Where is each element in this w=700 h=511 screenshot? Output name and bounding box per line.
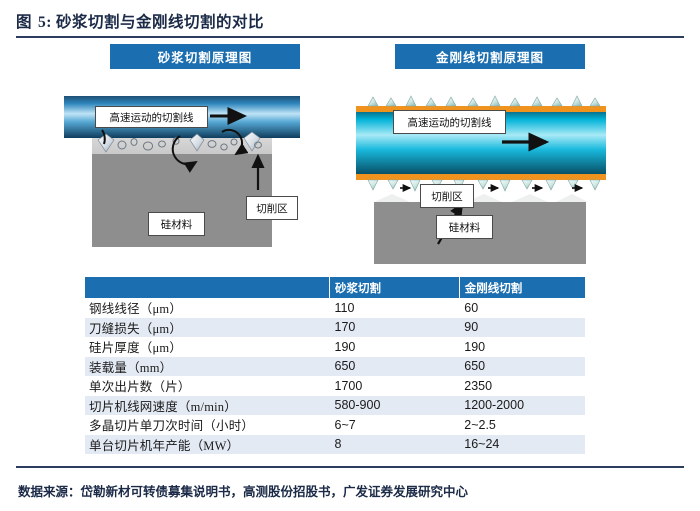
table-row: 多晶切片单刀次时间（小时） 6~7 2~2.5 [85, 415, 585, 435]
row-value-diamond: 190 [459, 337, 585, 357]
panel-diamond-header: 金刚线切割原理图 [395, 44, 585, 69]
callout-wire-right: 高速运动的切割线 [393, 110, 506, 134]
table-row: 钢线线径（μm） 110 60 [85, 298, 585, 318]
table-header-diamond: 金刚线切割 [459, 277, 585, 298]
row-value-mortar: 190 [330, 337, 460, 357]
row-value-mortar: 110 [330, 298, 460, 318]
table-header-mortar: 砂浆切割 [330, 277, 460, 298]
table-header-row: 砂浆切割 金刚线切割 [85, 277, 585, 298]
table-row: 装载量（mm） 650 650 [85, 357, 585, 377]
row-value-mortar: 8 [330, 435, 460, 455]
panel-mortar-header: 砂浆切割原理图 [110, 44, 300, 69]
row-value-diamond: 650 [459, 357, 585, 377]
callout-wire-left: 高速运动的切割线 [95, 106, 208, 128]
footer-divider [16, 466, 684, 468]
panel-mortar: 砂浆切割原理图 [110, 44, 300, 69]
figure-title-text: 砂浆切割与金刚线切割的对比 [56, 14, 264, 31]
wire-edge-bottom [356, 174, 606, 180]
row-value-mortar: 1700 [330, 376, 460, 396]
panel-diamond-wire: 金刚线切割原理图 [395, 44, 585, 69]
row-label: 装载量（mm） [85, 357, 330, 377]
row-label: 多晶切片单刀次时间（小时） [85, 415, 330, 435]
diamond-particles-bottom [368, 180, 600, 191]
row-value-mortar: 580-900 [330, 396, 460, 416]
table-header-blank [85, 277, 330, 298]
row-label: 硅片厚度（μm） [85, 337, 330, 357]
comparison-table: 砂浆切割 金刚线切割 钢线线径（μm） 110 60 刀缝损失（μm） 170 … [85, 277, 585, 454]
slurry-layer [92, 138, 272, 154]
row-label: 切片机线网速度（m/min） [85, 396, 330, 416]
callout-material-right: 硅材料 [436, 215, 493, 239]
row-value-mortar: 6~7 [330, 415, 460, 435]
table-row: 硅片厚度（μm） 190 190 [85, 337, 585, 357]
figure-label: 图 [16, 14, 32, 31]
callout-cut-zone-right: 切削区 [420, 184, 474, 208]
table-row: 刀缝损失（μm） 170 90 [85, 318, 585, 338]
title-divider [16, 36, 684, 38]
callout-material-left: 硅材料 [148, 212, 205, 236]
table-row: 单次出片数（片） 1700 2350 [85, 376, 585, 396]
row-label: 单台切片机年产能（MW） [85, 435, 330, 455]
row-value-diamond: 2350 [459, 376, 585, 396]
diamond-particles-top [368, 96, 600, 106]
callout-cut-zone-left: 切削区 [246, 196, 298, 220]
table-row: 切片机线网速度（m/min） 580-900 1200-2000 [85, 396, 585, 416]
row-label: 刀缝损失（μm） [85, 318, 330, 338]
page-title: 图5:砂浆切割与金刚线切割的对比 [16, 10, 264, 32]
source-note: 数据来源：岱勒新材可转债募集说明书，高测股份招股书，广发证券发展研究中心 [18, 481, 468, 500]
row-label: 钢线线径（μm） [85, 298, 330, 318]
figure-page: 图5:砂浆切割与金刚线切割的对比 砂浆切割原理图 [0, 0, 700, 511]
row-value-mortar: 650 [330, 357, 460, 377]
row-value-diamond: 60 [459, 298, 585, 318]
row-value-mortar: 170 [330, 318, 460, 338]
row-value-diamond: 1200-2000 [459, 396, 585, 416]
figure-number: 5: [38, 14, 52, 31]
row-value-diamond: 90 [459, 318, 585, 338]
row-value-diamond: 2~2.5 [459, 415, 585, 435]
row-value-diamond: 16~24 [459, 435, 585, 455]
table-row: 单台切片机年产能（MW） 8 16~24 [85, 435, 585, 455]
row-label: 单次出片数（片） [85, 376, 330, 396]
table-body: 钢线线径（μm） 110 60 刀缝损失（μm） 170 90 硅片厚度（μm）… [85, 298, 585, 454]
cut-grooves [374, 194, 588, 202]
